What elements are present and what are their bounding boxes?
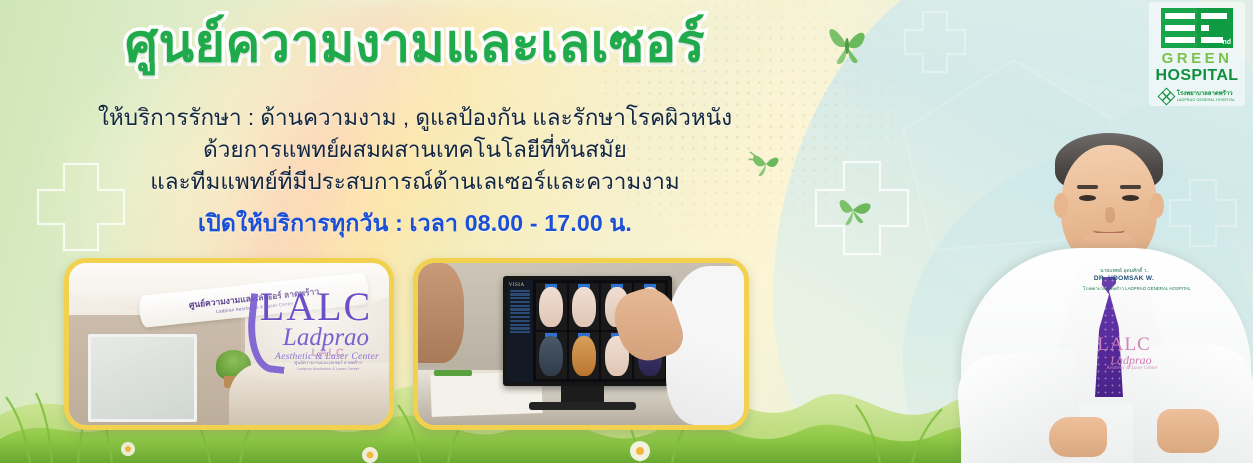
coat-logo-title: LALC bbox=[1081, 335, 1167, 354]
lalc-swirl-icon bbox=[243, 293, 292, 374]
service-line-3: และทีมแพทย์ที่มีประสบการณ์ด้านเลเซอร์และ… bbox=[0, 166, 830, 198]
doctor-eye-left bbox=[1079, 195, 1096, 201]
hospital-name-thai: โรงพยาบาลลาดพร้าว bbox=[1177, 91, 1236, 98]
doctor-nose bbox=[1105, 207, 1115, 223]
anniversary-ordinal: nd bbox=[1222, 39, 1231, 46]
doctor-ear-left bbox=[1054, 193, 1068, 218]
clinic-glass-door bbox=[88, 334, 197, 421]
visia-software-sidebar: VISIA bbox=[507, 280, 533, 382]
doctor-brow-right bbox=[1120, 185, 1141, 189]
coat-logo-script: Ladprao bbox=[1095, 354, 1167, 366]
logo-hospital-text: HOSPITAL bbox=[1156, 68, 1239, 85]
promo-banner: ศูนย์ความงามและเลเซอร์ ให้บริการรักษา : … bbox=[0, 0, 1253, 463]
doctor-hand-right bbox=[1157, 409, 1219, 453]
doctor-hand-left bbox=[1049, 417, 1107, 457]
hospital-names: โรงพยาบาลลาดพร้าว LADPRAO GENERAL HOSPIT… bbox=[1177, 91, 1236, 102]
visia-pens bbox=[434, 370, 506, 376]
page-title: ศูนย์ความงามและเลเซอร์ bbox=[0, 16, 830, 73]
doctor-ear-right bbox=[1150, 193, 1164, 218]
service-line-2: ด้วยการแพทย์ผสมผสานเทคโนโลยีที่ทันสมัย bbox=[0, 134, 830, 166]
green-hospital-logo: nd GREEN HOSPITAL โรงพยาบาลลาดพร้าว LADP… bbox=[1149, 2, 1245, 106]
monitor-base bbox=[529, 402, 637, 410]
face-thumbnail bbox=[536, 283, 567, 330]
hospital-identity-block: โรงพยาบาลลาดพร้าว LADPRAO GENERAL HOSPIT… bbox=[1159, 89, 1236, 104]
lalc-logo-script: Ladprao bbox=[283, 324, 369, 352]
monitor-stand bbox=[561, 386, 603, 404]
doctor-name-english: DR. UDOMSAK W. bbox=[1083, 275, 1165, 282]
lalc-logo-tagline: Aesthetic & Laser Center bbox=[275, 352, 379, 362]
logo-green-text: GREEN bbox=[1162, 50, 1233, 68]
doctor-brow-left bbox=[1077, 185, 1098, 189]
service-line-1: ให้บริการรักษา : ด้านความงาม , ดูแลป้องก… bbox=[0, 102, 830, 134]
coat-lalc-logo: LALC Ladprao Aesthetic & Laser Center bbox=[1081, 335, 1167, 371]
face-thumbnail bbox=[569, 332, 600, 379]
patient-silhouette bbox=[413, 263, 464, 363]
doctor-eye-right bbox=[1122, 195, 1139, 201]
photo-clinic-reception: ศูนย์ความงามและเลเซอร์ ลาดพร้าว Ladprao … bbox=[64, 258, 394, 430]
doctor-portrait: นายแพทย์ อุดมศักดิ์ ว. DR. UDOMSAK W. โร… bbox=[953, 58, 1253, 463]
hospital-name-english: LADPRAO GENERAL HOSPITAL bbox=[1177, 98, 1236, 102]
visia-brand-label: VISIA bbox=[509, 283, 531, 288]
doctor-name-thai: นายแพทย์ อุดมศักดิ์ ว. bbox=[1083, 267, 1165, 275]
doctor-hospital-label: โรงพยาบาลลาดพร้าว LADPRAO GENERAL HOSPIT… bbox=[1083, 285, 1165, 292]
opening-hours: เปิดให้บริการทุกวัน : เวลา 08.00 - 17.00… bbox=[0, 206, 830, 242]
anniversary-number-icon: nd bbox=[1161, 8, 1233, 48]
service-description: ให้บริการรักษา : ด้านความงาม , ดูแลป้องก… bbox=[0, 102, 830, 198]
hospital-knot-icon bbox=[1159, 89, 1174, 104]
photo-visia-consultation: VISIA bbox=[413, 258, 749, 430]
doctor-name-embroidery: นายแพทย์ อุดมศักดิ์ ว. DR. UDOMSAK W. โร… bbox=[1083, 267, 1165, 313]
visia-scene: VISIA bbox=[418, 263, 744, 425]
face-thumbnail bbox=[569, 283, 600, 330]
lalc-logo-overlay: LALC Ladprao Aesthetic & Laser Center bbox=[241, 269, 391, 381]
face-thumbnail bbox=[536, 332, 567, 379]
coat-logo-tagline: Aesthetic & Laser Center bbox=[1097, 366, 1167, 371]
